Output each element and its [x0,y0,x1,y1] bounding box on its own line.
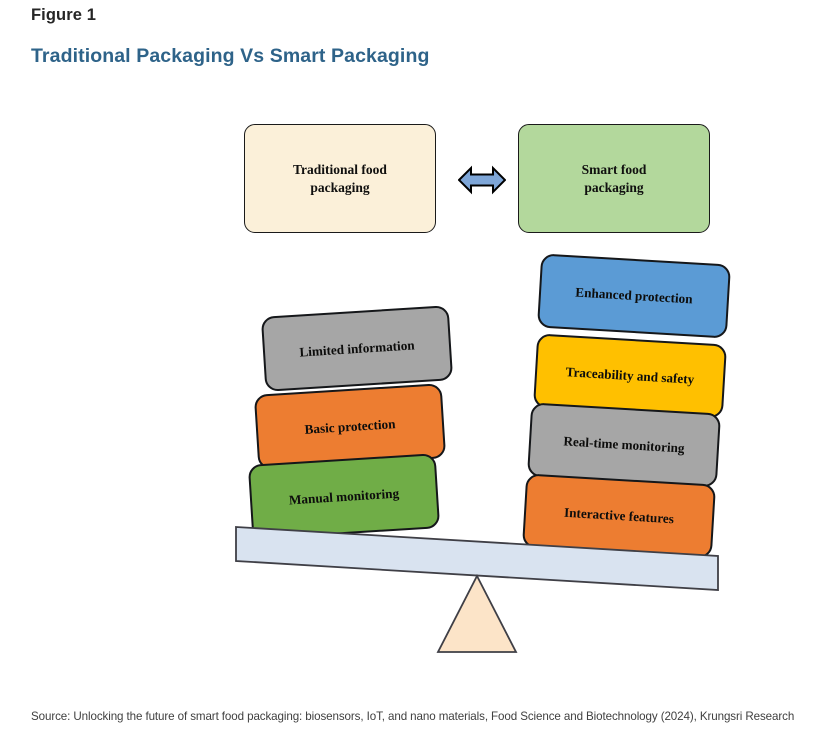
balance-fulcrum-triangle [438,576,516,652]
feature-card-manual-monitoring: Manual monitoring [248,453,440,540]
figure-container: Figure 1 Traditional Packaging Vs Smart … [0,0,840,746]
figure-label: Figure 1 [31,6,96,25]
feature-card-label: Basic protection [304,416,396,438]
smart-box-line-2: packaging [584,180,643,195]
source-note: Source: Unlocking the future of smart fo… [31,710,794,723]
feature-card-enhanced-protection: Enhanced protection [537,253,731,338]
traditional-box-line-1: Traditional food [293,162,387,177]
feature-card-interactive-features: Interactive features [522,473,716,558]
smart-packaging-box-label: Smart food packaging [582,161,647,196]
feature-card-label: Limited information [299,337,415,360]
double-headed-arrow-icon [458,163,506,197]
feature-card-label: Traceability and safety [565,364,694,388]
smart-packaging-box: Smart food packaging [518,124,710,233]
feature-card-label: Real-time monitoring [563,433,685,456]
feature-card-limited-information: Limited information [261,305,453,392]
traditional-box-line-2: packaging [310,180,369,195]
feature-card-label: Manual monitoring [288,485,399,508]
traditional-packaging-box-label: Traditional food packaging [293,161,387,196]
figure-title: Traditional Packaging Vs Smart Packaging [31,45,429,68]
feature-card-label: Interactive features [564,505,675,527]
smart-box-line-1: Smart food [582,162,647,177]
feature-card-label: Enhanced protection [575,285,693,308]
traditional-packaging-box: Traditional food packaging [244,124,436,233]
